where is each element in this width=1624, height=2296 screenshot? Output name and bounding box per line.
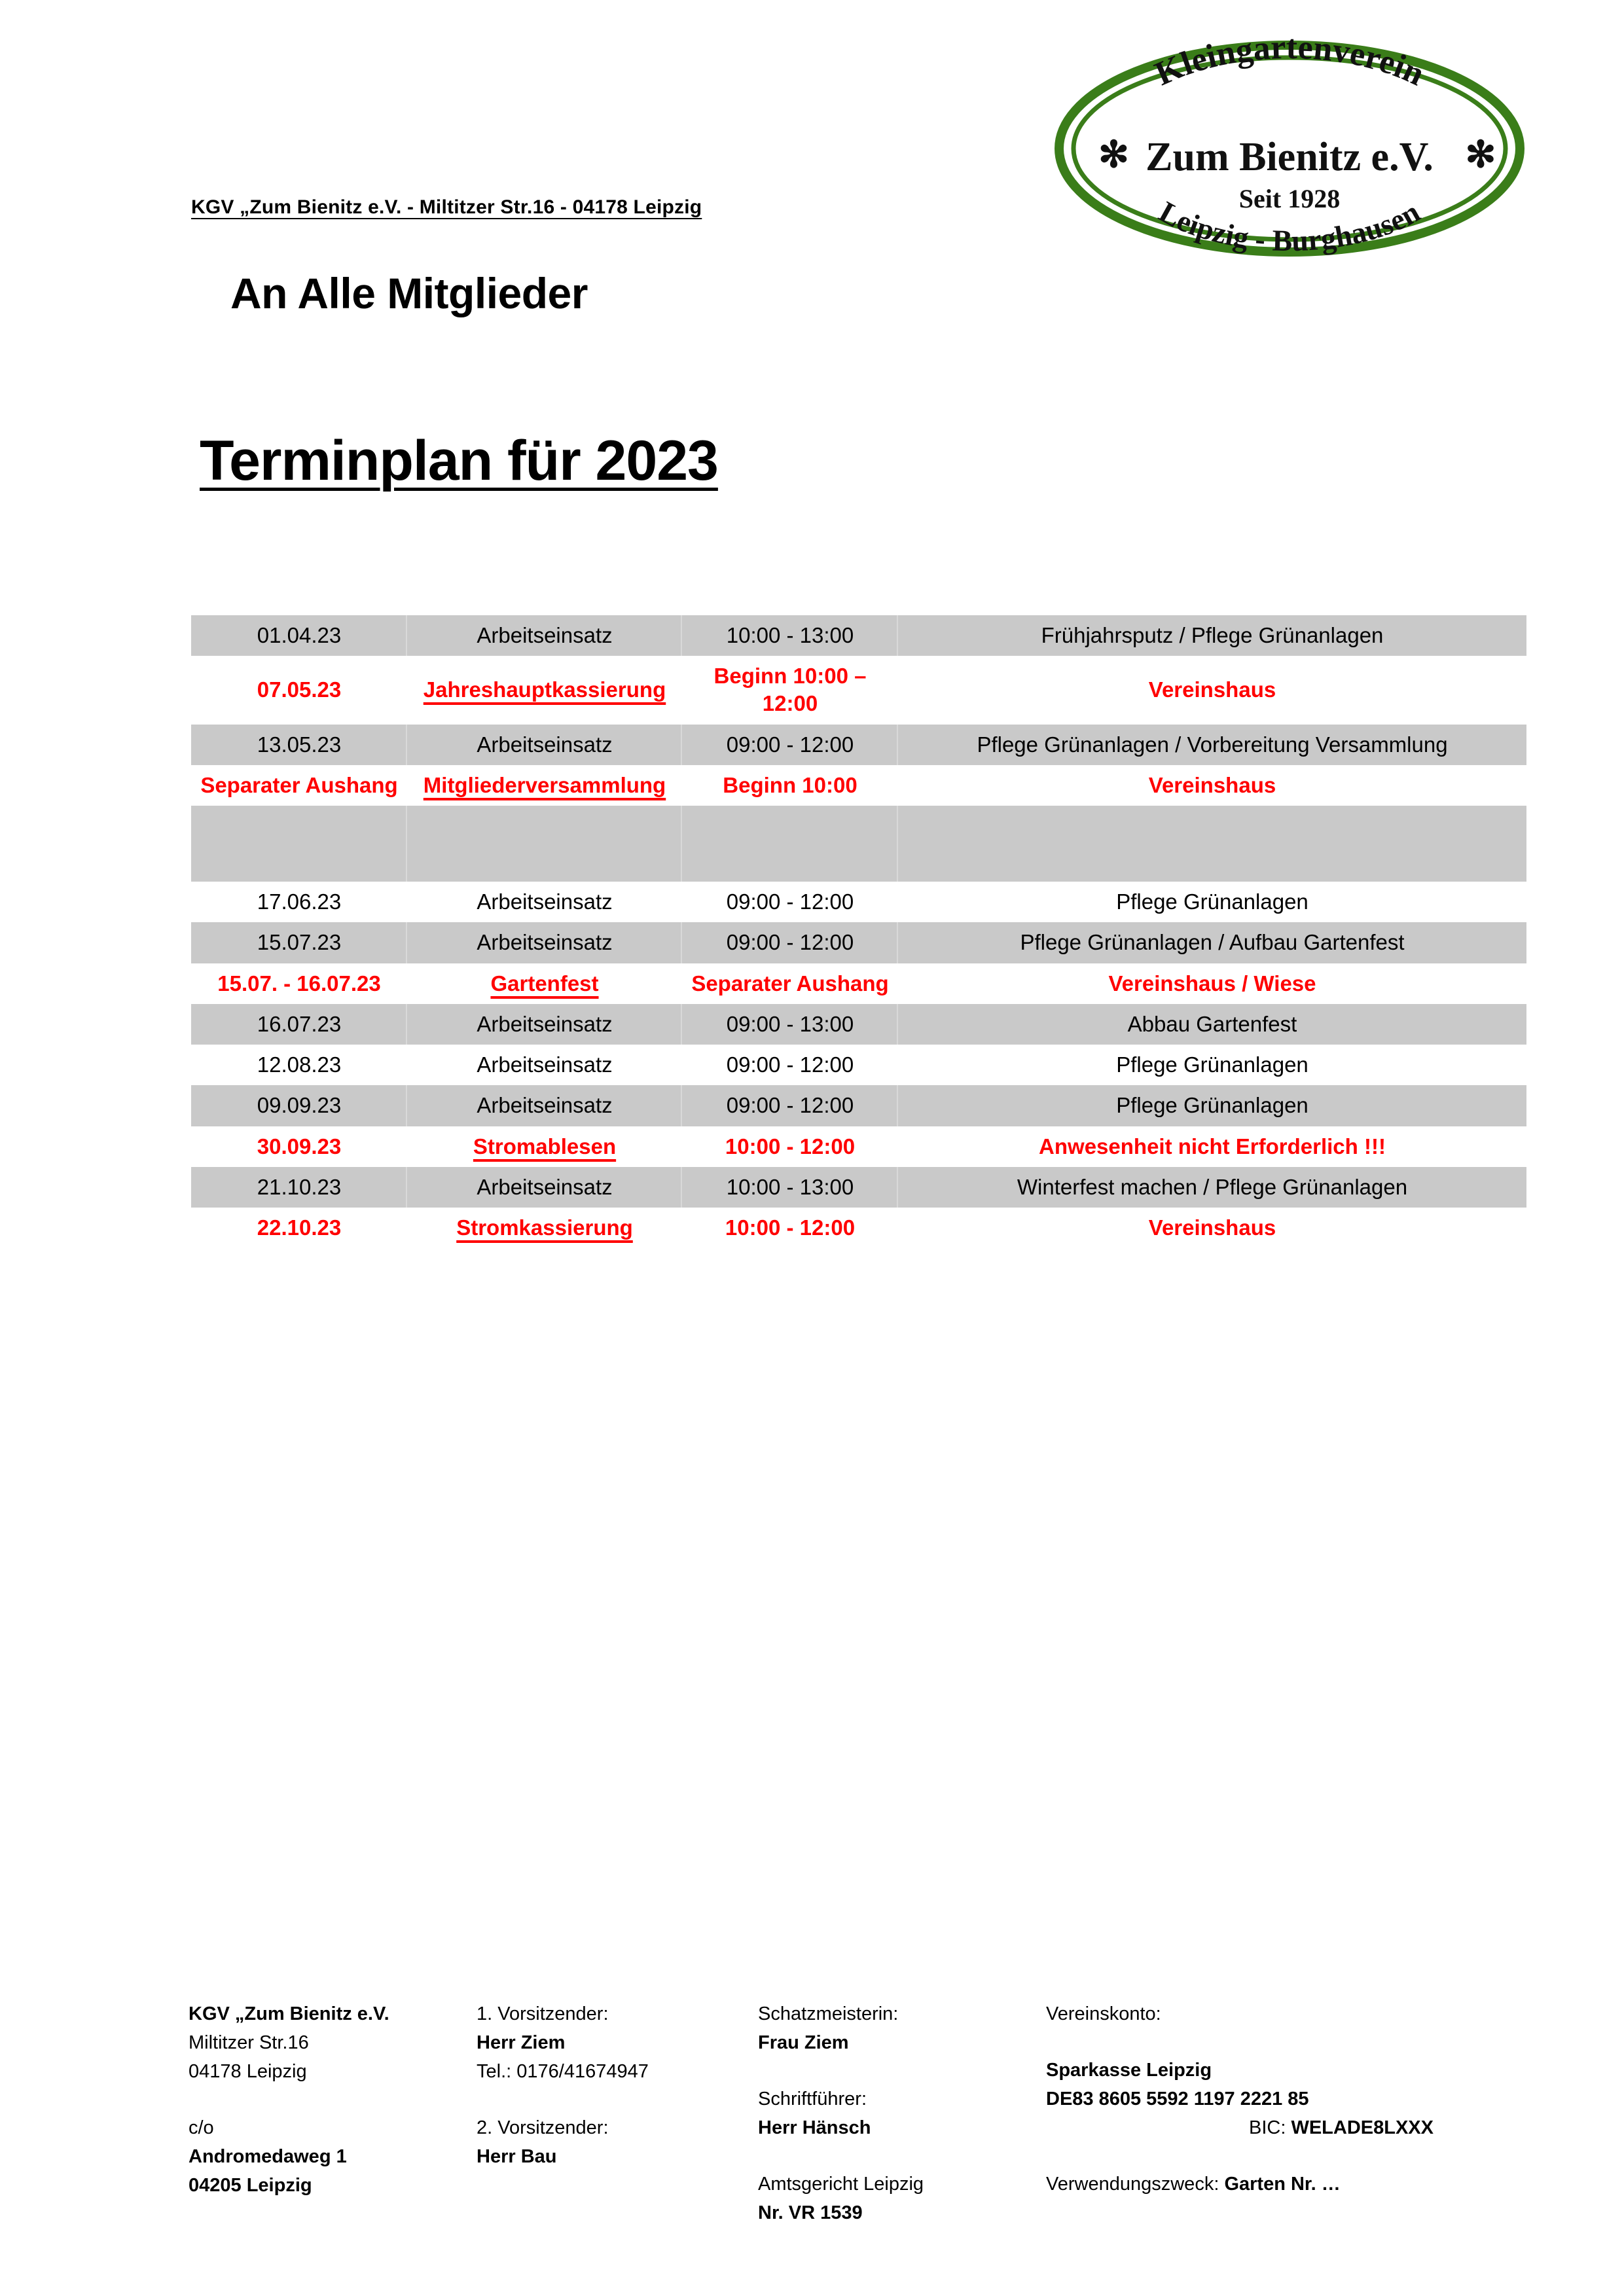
cell-text: Separater Aushang xyxy=(691,971,888,996)
table-row: 01.04.23Arbeitseinsatz10:00 - 13:00Frühj… xyxy=(191,615,1526,656)
schedule-cell-date: 21.10.23 xyxy=(191,1167,407,1208)
schedule-cell-time: 09:00 - 13:00 xyxy=(682,1004,898,1045)
table-row: 13.05.23Arbeitseinsatz09:00 - 12:00Pfleg… xyxy=(191,725,1526,765)
schedule-cell-time: Beginn 10:00 – 12:00 xyxy=(682,656,898,724)
cell-text: Anwesenheit nicht Erforderlich !!! xyxy=(1039,1134,1386,1158)
association-street: Miltitzer Str.16 xyxy=(189,2028,477,2057)
svg-text:Zum Bienitz e.V.: Zum Bienitz e.V. xyxy=(1146,135,1434,179)
chair1-label: 1. Vorsitzender: xyxy=(477,2000,758,2028)
cell-text: 09:00 - 12:00 xyxy=(727,930,854,954)
cell-text: 30.09.23 xyxy=(257,1134,341,1158)
schedule-cell-note: Vereinshaus xyxy=(898,656,1526,724)
cell-text: Vereinshaus xyxy=(1149,773,1276,797)
schedule-cell-date: 07.05.23 xyxy=(191,656,407,724)
spacer xyxy=(758,2057,1046,2085)
schedule-cell-note: Anwesenheit nicht Erforderlich !!! xyxy=(898,1126,1526,1167)
cell-text: Stromablesen xyxy=(473,1134,616,1158)
schedule-cell-event: Jahreshauptkassierung xyxy=(407,656,682,724)
schedule-cell-event: Stromablesen xyxy=(407,1126,682,1167)
schedule-cell-date: 09.09.23 xyxy=(191,1085,407,1126)
cell-text: 16.07.23 xyxy=(257,1012,341,1036)
cell-text: Gartenfest xyxy=(490,971,598,996)
cell-text: Pflege Grünanlagen xyxy=(1116,1093,1308,1117)
svg-text:✻: ✻ xyxy=(1098,135,1129,175)
table-row: 21.10.23Arbeitseinsatz10:00 - 13:00Winte… xyxy=(191,1167,1526,1208)
cell-text: 21.10.23 xyxy=(257,1175,341,1199)
co-city: 04205 Leipzig xyxy=(189,2175,312,2196)
cell-text: Arbeitseinsatz xyxy=(477,623,612,647)
schedule-cell-event: Mitgliederversammlung xyxy=(407,765,682,806)
cell-text: Beginn 10:00 – 12:00 xyxy=(714,664,867,715)
cell-text: 13.05.23 xyxy=(257,732,341,757)
chair2-label: 2. Vorsitzender: xyxy=(477,2113,758,2142)
cell-text: Pflege Grünanlagen / Vorbereitung Versam… xyxy=(977,732,1447,757)
svg-text:Seit 1928: Seit 1928 xyxy=(1239,184,1340,213)
schedule-cell-note: Abbau Gartenfest xyxy=(898,1004,1526,1045)
cell-text: Abbau Gartenfest xyxy=(1128,1012,1297,1036)
cell-text: Arbeitseinsatz xyxy=(477,732,612,757)
treasurer-name: Frau Ziem xyxy=(758,2032,849,2053)
schedule-cell-note: Pflege Grünanlagen xyxy=(898,1085,1526,1126)
footer-column-bank: Vereinskonto: Sparkasse Leipzig DE83 860… xyxy=(1046,2000,1471,2227)
schedule-cell-event: Arbeitseinsatz xyxy=(407,725,682,765)
schedule-cell-event: Stromkassierung xyxy=(407,1208,682,1248)
schedule-cell-event: Arbeitseinsatz xyxy=(407,882,682,922)
table-row: 09.09.23Arbeitseinsatz09:00 - 12:00Pfleg… xyxy=(191,1085,1526,1126)
cell-text: Pflege Grünanlagen / Aufbau Gartenfest xyxy=(1020,930,1404,954)
cell-text: 15.07.23 xyxy=(257,930,341,954)
cell-text: Beginn 10:00 xyxy=(723,773,857,797)
cell-text: Arbeitseinsatz xyxy=(477,1052,612,1077)
secretary-name: Herr Hänsch xyxy=(758,2117,871,2138)
cell-text: 09:00 - 12:00 xyxy=(727,1093,854,1117)
cell-text: 17.06.23 xyxy=(257,889,341,914)
spacer xyxy=(477,2086,758,2113)
cell-text: 09:00 - 12:00 xyxy=(727,889,854,914)
spacer xyxy=(758,2142,1046,2170)
schedule-cell-date: Separater Aushang xyxy=(191,765,407,806)
schedule-cell-event: Arbeitseinsatz xyxy=(407,922,682,963)
schedule-cell-note: Vereinshaus xyxy=(898,765,1526,806)
svg-text:✻: ✻ xyxy=(1466,135,1496,175)
purpose-value: Garten Nr. … xyxy=(1224,2174,1340,2195)
court-label: Amtsgericht Leipzig xyxy=(758,2170,1046,2198)
cell-text: Stromkassierung xyxy=(456,1215,633,1240)
cell-text: Separater Aushang xyxy=(200,773,397,797)
cell-text: 07.05.23 xyxy=(257,677,341,702)
footer-column-chairs: 1. Vorsitzender: Herr Ziem Tel.: 0176/41… xyxy=(477,2000,758,2227)
schedule-cell-time: 10:00 - 13:00 xyxy=(682,1167,898,1208)
purpose-label: Verwendungszweck: xyxy=(1046,2174,1219,2195)
schedule-cell-note: Winterfest machen / Pflege Grünanlagen xyxy=(898,1167,1526,1208)
schedule-empty-cell xyxy=(407,806,682,882)
cell-text: 09:00 - 13:00 xyxy=(727,1012,854,1036)
chair1-name: Herr Ziem xyxy=(477,2032,565,2053)
schedule-cell-date: 30.09.23 xyxy=(191,1126,407,1167)
schedule-empty-cell xyxy=(191,806,407,882)
schedule-cell-event: Arbeitseinsatz xyxy=(407,615,682,656)
table-row: 07.05.23JahreshauptkassierungBeginn 10:0… xyxy=(191,656,1526,724)
schedule-cell-note: Vereinshaus xyxy=(898,1208,1526,1248)
bic-label: BIC: xyxy=(1249,2117,1286,2138)
account-label: Vereinskonto: xyxy=(1046,2000,1471,2028)
schedule-cell-date: 17.06.23 xyxy=(191,882,407,922)
schedule-cell-note: Pflege Grünanlagen xyxy=(898,882,1526,922)
schedule-cell-note: Pflege Grünanlagen xyxy=(898,1045,1526,1085)
schedule-cell-date: 13.05.23 xyxy=(191,725,407,765)
cell-text: 12.08.23 xyxy=(257,1052,341,1077)
schedule-cell-event: Arbeitseinsatz xyxy=(407,1167,682,1208)
cell-text: 09.09.23 xyxy=(257,1093,341,1117)
table-row: 17.06.23Arbeitseinsatz09:00 - 12:00Pfleg… xyxy=(191,882,1526,922)
treasurer-label: Schatzmeisterin: xyxy=(758,2000,1046,2028)
association-city: 04178 Leipzig xyxy=(189,2057,477,2086)
cell-text: Vereinshaus xyxy=(1149,677,1276,702)
schedule-cell-time: 10:00 - 13:00 xyxy=(682,615,898,656)
schedule-cell-time: Separater Aushang xyxy=(682,963,898,1004)
cell-text: Vereinshaus xyxy=(1149,1215,1276,1240)
schedule-table: 01.04.23Arbeitseinsatz10:00 - 13:00Frühj… xyxy=(191,615,1526,1248)
cell-text: 09:00 - 12:00 xyxy=(727,1052,854,1077)
footer-column-association: KGV „Zum Bienitz e.V. Miltitzer Str.16 0… xyxy=(189,2000,477,2227)
schedule-cell-note: Pflege Grünanlagen / Aufbau Gartenfest xyxy=(898,922,1526,963)
co-label: c/o xyxy=(189,2113,477,2142)
cell-text: 10:00 - 13:00 xyxy=(727,1175,854,1199)
schedule-empty-cell xyxy=(898,806,1526,882)
schedule-cell-time: Beginn 10:00 xyxy=(682,765,898,806)
schedule-cell-note: Vereinshaus / Wiese xyxy=(898,963,1526,1004)
schedule-cell-note: Frühjahrsputz / Pflege Grünanlagen xyxy=(898,615,1526,656)
schedule-cell-time: 10:00 - 12:00 xyxy=(682,1208,898,1248)
table-row: 22.10.23Stromkassierung10:00 - 12:00Vere… xyxy=(191,1208,1526,1248)
schedule-cell-date: 12.08.23 xyxy=(191,1045,407,1085)
schedule-empty-cell xyxy=(682,806,898,882)
cell-text: Pflege Grünanlagen xyxy=(1116,889,1308,914)
chair1-phone: Tel.: 0176/41674947 xyxy=(477,2057,758,2086)
schedule-cell-date: 01.04.23 xyxy=(191,615,407,656)
cell-text: Vereinshaus / Wiese xyxy=(1108,971,1316,996)
cell-text: Pflege Grünanlagen xyxy=(1116,1052,1308,1077)
cell-text: 10:00 - 13:00 xyxy=(727,623,854,647)
schedule-cell-date: 16.07.23 xyxy=(191,1004,407,1045)
schedule-cell-event: Arbeitseinsatz xyxy=(407,1045,682,1085)
table-row: Separater AushangMitgliederversammlungBe… xyxy=(191,765,1526,806)
cell-text: Arbeitseinsatz xyxy=(477,930,612,954)
cell-text: Arbeitseinsatz xyxy=(477,1175,612,1199)
secretary-label: Schriftführer: xyxy=(758,2085,1046,2113)
footer-contact-block: KGV „Zum Bienitz e.V. Miltitzer Str.16 0… xyxy=(189,2000,1471,2227)
cell-text: 15.07. - 16.07.23 xyxy=(217,971,381,996)
svg-text:Kleingartenverein: Kleingartenverein xyxy=(1149,36,1430,93)
schedule-cell-event: Gartenfest xyxy=(407,963,682,1004)
spacer xyxy=(1046,2142,1471,2170)
schedule-cell-time: 10:00 - 12:00 xyxy=(682,1126,898,1167)
schedule-cell-event: Arbeitseinsatz xyxy=(407,1085,682,1126)
bank-bic: WELADE8LXXX xyxy=(1291,2117,1434,2138)
footer-column-officers: Schatzmeisterin: Frau Ziem Schriftführer… xyxy=(758,2000,1046,2227)
addressee-heading: An Alle Mitglieder xyxy=(230,268,588,318)
schedule-cell-time: 09:00 - 12:00 xyxy=(682,922,898,963)
schedule-cell-time: 09:00 - 12:00 xyxy=(682,1085,898,1126)
table-row: 15.07.23Arbeitseinsatz09:00 - 12:00Pfleg… xyxy=(191,922,1526,963)
page-title: Terminplan für 2023 xyxy=(200,429,718,493)
cell-text: 01.04.23 xyxy=(257,623,341,647)
cell-text: 09:00 - 12:00 xyxy=(727,732,854,757)
cell-text: Arbeitseinsatz xyxy=(477,889,612,914)
sender-address-line: KGV „Zum Bienitz e.V. - Miltitzer Str.16… xyxy=(191,196,702,219)
cell-text: 22.10.23 xyxy=(257,1215,341,1240)
court-number: Nr. VR 1539 xyxy=(758,2202,863,2223)
cell-text: Jahreshauptkassierung xyxy=(424,677,666,702)
cell-text: 10:00 - 12:00 xyxy=(725,1215,855,1240)
schedule-cell-date: 15.07. - 16.07.23 xyxy=(191,963,407,1004)
bank-name: Sparkasse Leipzig xyxy=(1046,2060,1212,2081)
schedule-cell-event: Arbeitseinsatz xyxy=(407,1004,682,1045)
cell-text: Frühjahrsputz / Pflege Grünanlagen xyxy=(1041,623,1384,647)
schedule-cell-time: 09:00 - 12:00 xyxy=(682,1045,898,1085)
schedule-cell-date: 22.10.23 xyxy=(191,1208,407,1248)
schedule-cell-time: 09:00 - 12:00 xyxy=(682,882,898,922)
cell-text: Winterfest machen / Pflege Grünanlagen xyxy=(1017,1175,1407,1199)
cell-text: Mitgliederversammlung xyxy=(424,773,666,797)
schedule-spacer-row xyxy=(191,806,1526,882)
table-row: 15.07. - 16.07.23GartenfestSeparater Aus… xyxy=(191,963,1526,1004)
association-logo-stamp: Kleingartenverein ✻ Zum Bienitz e.V. ✻ S… xyxy=(1047,36,1532,259)
co-street: Andromedaweg 1 xyxy=(189,2146,347,2167)
cell-text: Arbeitseinsatz xyxy=(477,1093,612,1117)
schedule-table-body: 01.04.23Arbeitseinsatz10:00 - 13:00Frühj… xyxy=(191,615,1526,1248)
cell-text: 10:00 - 12:00 xyxy=(725,1134,855,1158)
table-row: 16.07.23Arbeitseinsatz09:00 - 13:00Abbau… xyxy=(191,1004,1526,1045)
schedule-cell-time: 09:00 - 12:00 xyxy=(682,725,898,765)
bank-iban: DE83 8605 5592 1197 2221 85 xyxy=(1046,2089,1309,2109)
spacer xyxy=(189,2086,477,2113)
table-row: 30.09.23Stromablesen10:00 - 12:00Anwesen… xyxy=(191,1126,1526,1167)
schedule-cell-date: 15.07.23 xyxy=(191,922,407,963)
cell-text: Arbeitseinsatz xyxy=(477,1012,612,1036)
schedule-cell-note: Pflege Grünanlagen / Vorbereitung Versam… xyxy=(898,725,1526,765)
spacer xyxy=(1046,2028,1471,2056)
chair2-name: Herr Bau xyxy=(477,2146,557,2167)
table-row: 12.08.23Arbeitseinsatz09:00 - 12:00Pfleg… xyxy=(191,1045,1526,1085)
association-name: KGV „Zum Bienitz e.V. xyxy=(189,2003,389,2024)
